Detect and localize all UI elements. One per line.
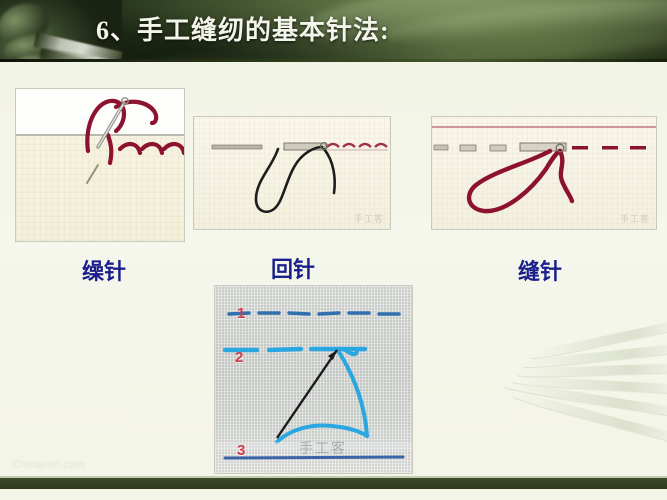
small-needle-mark-icon bbox=[87, 165, 98, 183]
grass-blades-decoration bbox=[487, 308, 667, 478]
stitch-dashes-red bbox=[327, 144, 388, 150]
stitch-row-1 bbox=[229, 313, 399, 314]
caption-running-stitch: 缝针 bbox=[518, 254, 562, 286]
header-leaf-highlight-icon bbox=[379, 0, 667, 50]
caption-hem-stitch: 缲针 bbox=[82, 254, 126, 286]
stitch-row-number: 1 bbox=[237, 305, 245, 322]
photo-watermark: 手工客 bbox=[299, 438, 347, 458]
back-stitch-illustration: 手工客 bbox=[194, 117, 390, 229]
stitch-row-number: 3 bbox=[237, 442, 245, 459]
running-stitch-illustration: 手工客 bbox=[432, 117, 656, 229]
stitch-dashes bbox=[212, 143, 326, 150]
stitch-dashes-red bbox=[572, 146, 646, 150]
corner-watermark: Chinaren.com bbox=[12, 459, 85, 471]
stitch-row-number: 2 bbox=[235, 349, 243, 366]
hem-stitch-thread-drawing bbox=[16, 89, 184, 241]
panel-watermark: 手工客 bbox=[354, 212, 384, 225]
hem-stitch-illustration bbox=[16, 89, 184, 241]
slide-header: 6、手工缝纫的基本针法: bbox=[0, 0, 667, 62]
footer-band bbox=[0, 478, 667, 489]
caption-back-stitch: 回针 bbox=[271, 252, 315, 284]
slide: 6、手工缝纫的基本针法: Chinaren.com bbox=[0, 0, 667, 500]
working-thread bbox=[277, 350, 367, 442]
stitch-dashes bbox=[434, 143, 566, 151]
page-title: 6、手工缝纫的基本针法: bbox=[96, 10, 390, 47]
blue-stitch-photo: 1 2 3 手工客 bbox=[215, 286, 412, 473]
panel-watermark: 手工客 bbox=[620, 212, 650, 225]
